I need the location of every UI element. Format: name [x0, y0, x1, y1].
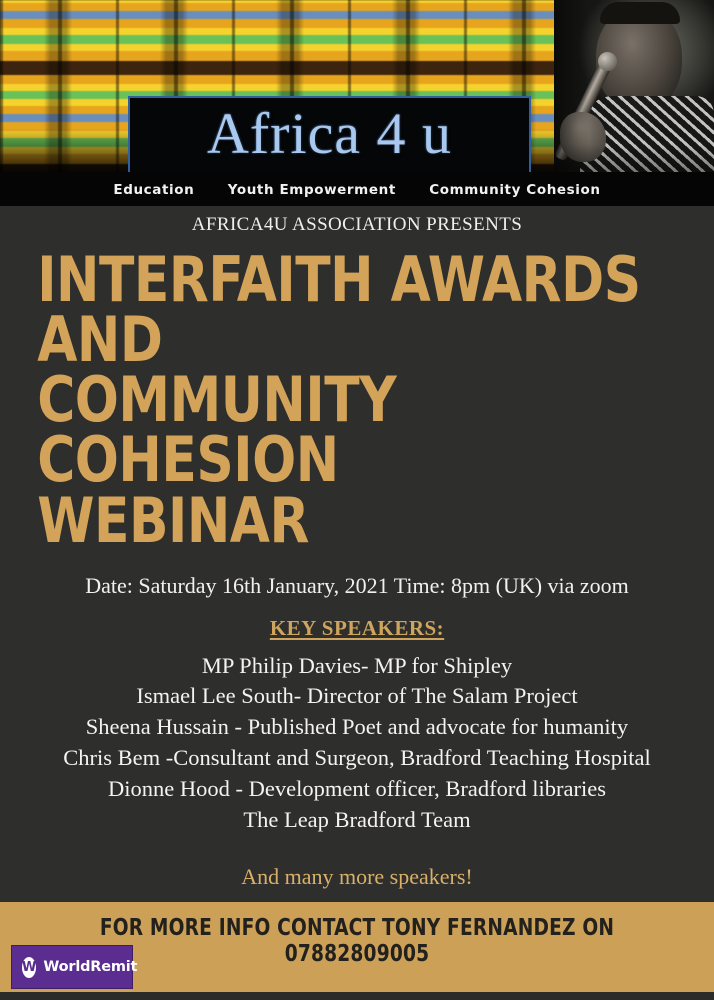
- banner-tagline: Education Youth Empowerment Community Co…: [0, 182, 714, 198]
- more-speakers-note: And many more speakers!: [0, 864, 714, 890]
- list-item: Sheena Hussain - Published Poet and advo…: [0, 712, 714, 743]
- worldremit-badge[interactable]: W WorldRemit: [11, 945, 133, 989]
- event-datetime: Date: Saturday 16th January, 2021 Time: …: [0, 573, 714, 599]
- list-item: MP Philip Davies- MP for Shipley: [0, 651, 714, 682]
- worldremit-logo-icon: W: [22, 957, 36, 978]
- logo-text: Africa 4 u: [207, 105, 452, 167]
- title-line-1: INTERFAITH AWARDS AND: [37, 250, 645, 370]
- list-item: Dionne Hood - Development officer, Bradf…: [0, 774, 714, 805]
- presenter-line: AFRICA4U ASSOCIATION PRESENTS: [0, 214, 714, 236]
- title-line-2: COMMUNITY COHESION: [37, 370, 645, 490]
- list-item: The Leap Bradford Team: [0, 805, 714, 836]
- event-flyer: Africa 4 u Education Youth Empowerment C…: [0, 0, 714, 1000]
- worldremit-label: WorldRemit: [43, 959, 137, 975]
- speakers-list: MP Philip Davies- MP for Shipley Ismael …: [0, 651, 714, 836]
- tagline-item-community-cohesion: Community Cohesion: [429, 182, 600, 198]
- title-line-3: WEBINAR: [37, 491, 645, 551]
- list-item: Chris Bem -Consultant and Surgeon, Bradf…: [0, 743, 714, 774]
- tagline-item-education: Education: [113, 182, 194, 198]
- list-item: Ismael Lee South- Director of The Salam …: [0, 681, 714, 712]
- page-title: INTERFAITH AWARDS AND COMMUNITY COHESION…: [0, 250, 664, 551]
- key-speakers-heading: KEY SPEAKERS:: [0, 616, 714, 641]
- contact-bar: FOR MORE INFO CONTACT TONY FERNANDEZ ON …: [0, 902, 714, 992]
- tagline-item-youth-empowerment: Youth Empowerment: [228, 182, 396, 198]
- africa4u-logo: Africa 4 u: [128, 96, 531, 176]
- bottom-edge-strip: [0, 992, 714, 1000]
- header-banner: Africa 4 u Education Youth Empowerment C…: [0, 0, 714, 206]
